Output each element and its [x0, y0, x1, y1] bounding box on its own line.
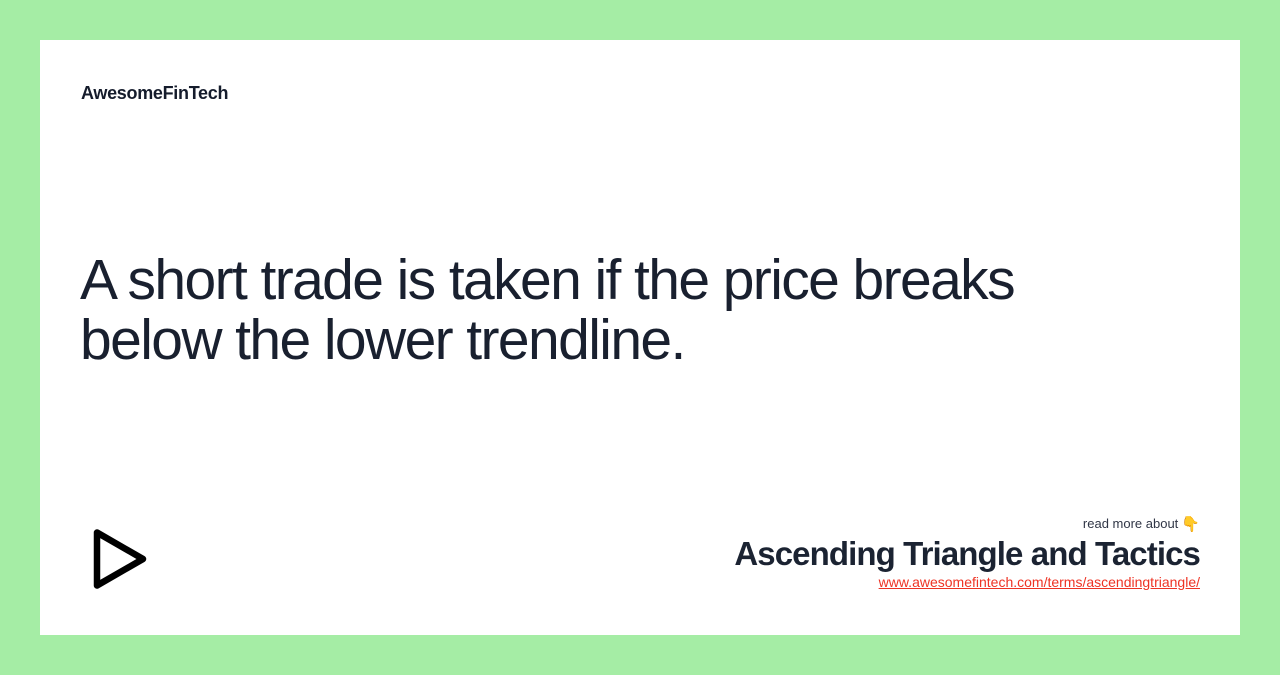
slide-canvas: AwesomeFinTech A short trade is taken if…	[0, 0, 1280, 675]
term-title: Ascending Triangle and Tactics	[640, 536, 1200, 572]
brand-logo-text: AwesomeFinTech	[81, 84, 228, 102]
read-more-row: read more about👇	[640, 517, 1200, 532]
term-url-link[interactable]: www.awesomefintech.com/terms/ascendingtr…	[879, 574, 1200, 591]
quote-text: A short trade is taken if the price brea…	[80, 250, 1120, 371]
read-more-label: read more about	[1083, 516, 1178, 531]
footer-block: read more about👇 Ascending Triangle and …	[640, 517, 1200, 592]
pointing-down-icon: 👇	[1181, 516, 1200, 533]
content-card: AwesomeFinTech A short trade is taken if…	[40, 40, 1240, 635]
play-icon[interactable]	[88, 524, 150, 594]
